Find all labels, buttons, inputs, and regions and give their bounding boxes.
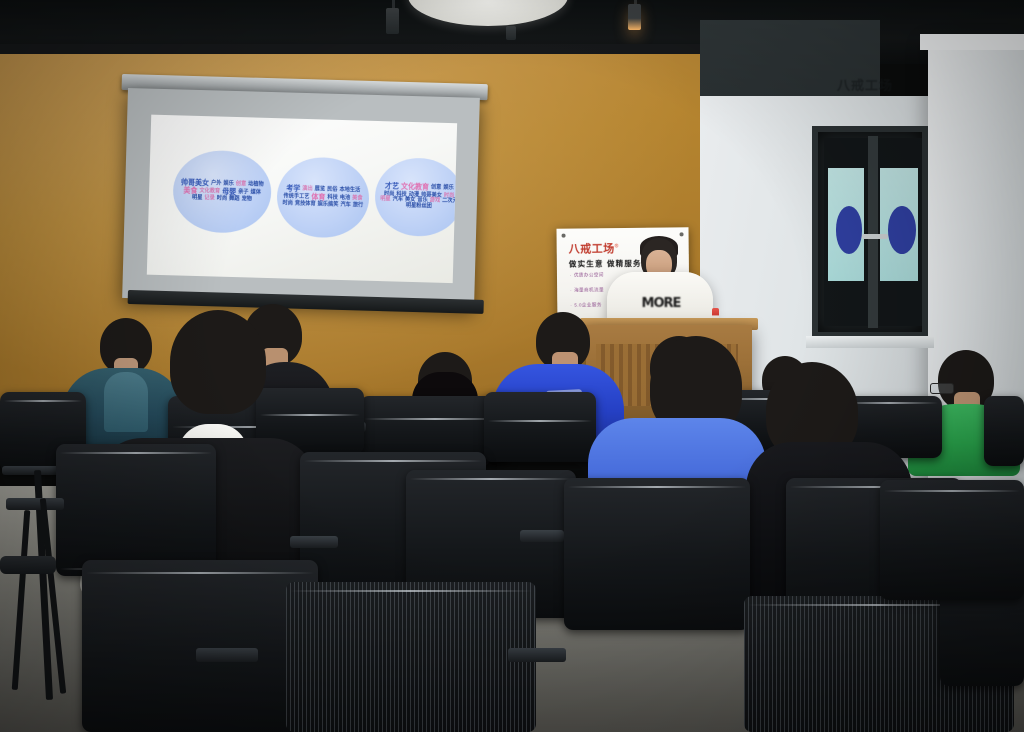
- speaker-shirt-graphic: MORE: [632, 296, 690, 311]
- chair-seat: [0, 556, 56, 574]
- slide-word: 汽车: [393, 198, 404, 203]
- banner-grommet-tr: [680, 232, 684, 236]
- chair-highlight: [884, 490, 1020, 492]
- spotlight-left: [386, 8, 399, 34]
- glasses-icon: [930, 383, 954, 394]
- chair-highlight: [304, 460, 482, 462]
- chair-backrest: [984, 396, 1024, 466]
- slide-bubble-2: 考学演出展览民俗本地生活传统手工艺体育科技电池美食时尚竞技体育娱乐搞笑汽车旅行: [276, 156, 370, 239]
- chair-mesh-back: [286, 582, 536, 732]
- chair-backrest: [564, 478, 750, 630]
- slide-word: 宠物: [241, 197, 252, 202]
- window: [812, 126, 928, 338]
- slide-bubble-3: 才艺文化教育创意娱乐时尚科技动漫帅哥美女时尚明星汽车美女音乐游戏二次元明星粉丝团: [374, 157, 457, 237]
- slide-word: 媒体: [250, 190, 261, 197]
- chair-tablet-arm[interactable]: [6, 498, 64, 510]
- chair-highlight: [86, 572, 314, 574]
- projection-screen: 帅哥美女户外娱乐创意动植物美食文化教育母婴亲子媒体明星记录时尚舞蹈宠物 考学演出…: [122, 88, 480, 308]
- window-pane-left: [824, 138, 868, 326]
- window-handle-icon[interactable]: [862, 234, 888, 239]
- chair-tablet-arm[interactable]: [508, 648, 566, 662]
- slide-bubble-1: 帅哥美女户外娱乐创意动植物美食文化教育母婴亲子媒体明星记录时尚舞蹈宠物: [172, 149, 272, 234]
- chair-highlight: [568, 486, 746, 488]
- window-poster-blob-left: [836, 206, 863, 253]
- head: [170, 310, 266, 414]
- banner-tagline: 做实生意 做精服务: [569, 258, 642, 270]
- slide-word: 记录: [204, 196, 215, 201]
- slide-word: 明星粉丝团: [406, 204, 432, 210]
- pillar-cap: [920, 34, 1024, 50]
- chair-highlight: [410, 478, 572, 480]
- spotlight-right: [628, 4, 641, 30]
- jersey-panel: [104, 372, 148, 432]
- banner-logo-trademark: ®: [615, 243, 619, 249]
- slide-word: 明星: [380, 197, 391, 202]
- banner-logo: 八戒工场®: [569, 240, 619, 257]
- chair-tablet-arm[interactable]: [520, 530, 564, 542]
- slide-word: 竞技体育: [295, 202, 316, 208]
- slide-surface: 帅哥美女户外娱乐创意动植物美食文化教育母婴亲子媒体明星记录时尚舞蹈宠物 考学演出…: [147, 115, 457, 283]
- window-pane-right: [876, 138, 922, 326]
- banner-grommet-tl: [562, 234, 566, 238]
- slide-word: 娱乐搞笑: [318, 202, 339, 208]
- slide-word: 汽车: [340, 203, 351, 208]
- chair-highlight: [488, 420, 592, 422]
- slide-word: 时尚: [282, 201, 293, 206]
- window-poster-left: [828, 168, 865, 281]
- chair-tablet-arm[interactable]: [290, 536, 338, 548]
- slide-word: 明星: [192, 196, 203, 201]
- window-mullion: [868, 136, 878, 328]
- banner-logo-text: 八戒工场: [569, 243, 615, 255]
- chair-highlight: [4, 400, 82, 402]
- photo-scene: 八戒工场 帅哥美女户外娱乐创意动植物美食文化教育母婴亲子媒体明星记录时尚舞蹈宠物…: [0, 0, 1024, 732]
- wall-sign-text: 八戒工场: [826, 72, 904, 96]
- chair-highlight: [60, 452, 212, 454]
- chair-backrest: [484, 392, 596, 462]
- slide-word: 舞蹈: [229, 197, 240, 202]
- wall-top-shadow: [0, 44, 760, 54]
- window-sill: [806, 336, 934, 348]
- spotlight-center: [506, 26, 516, 40]
- chair-backrest: [56, 444, 216, 576]
- chair-backrest: [880, 480, 1024, 600]
- slide-word: 时尚: [217, 196, 228, 201]
- chair-backrest: [82, 560, 318, 732]
- window-poster-right: [880, 168, 919, 281]
- chair-highlight: [260, 414, 360, 416]
- slide-word: 二次元: [442, 199, 457, 205]
- chair-tablet-arm[interactable]: [196, 648, 258, 662]
- chair-highlight: [290, 590, 532, 592]
- window-poster-blob-right: [888, 206, 916, 253]
- slide-word: 旅行: [353, 203, 364, 208]
